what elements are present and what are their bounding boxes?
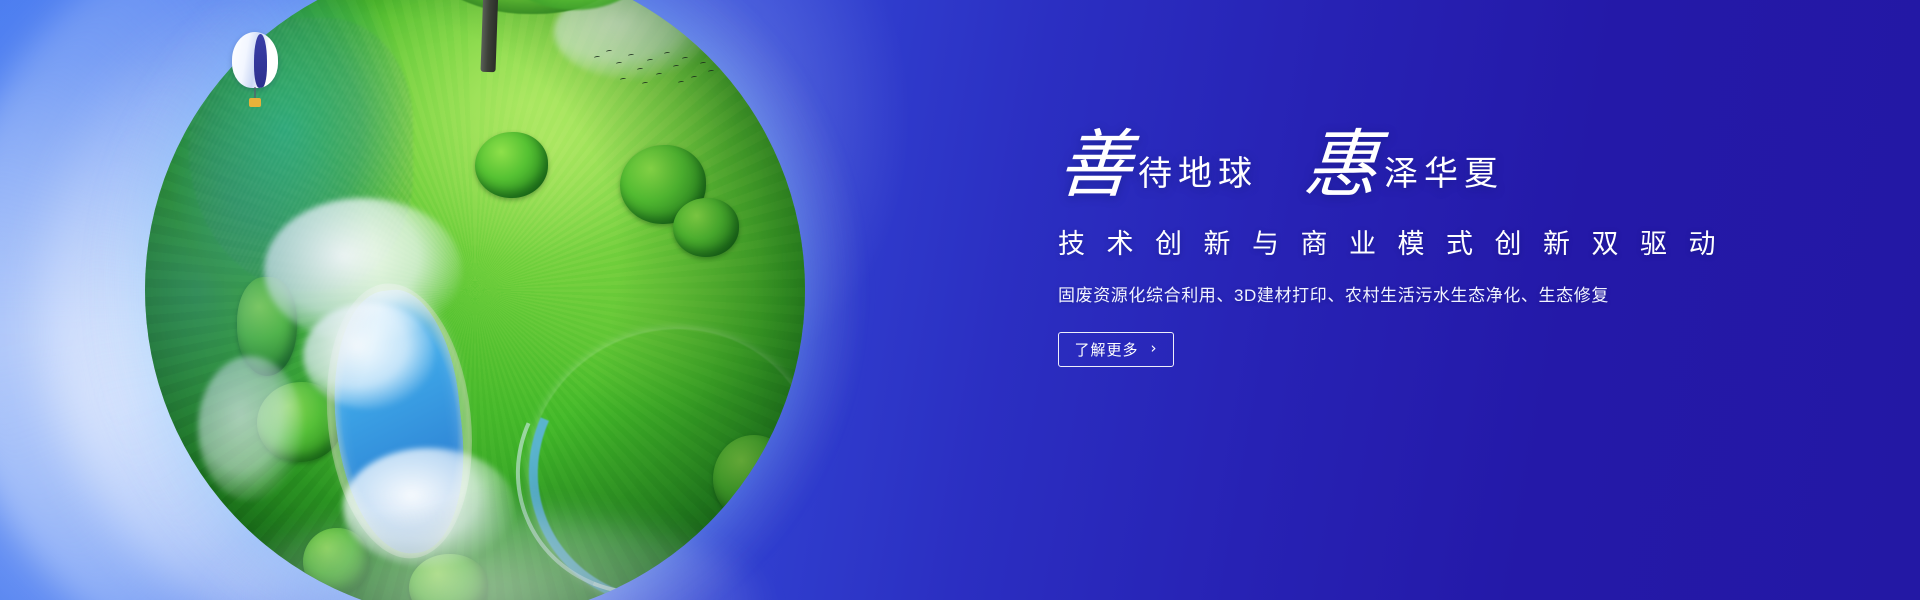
tree-icon — [257, 382, 343, 461]
headline-char-1: 善 — [1056, 132, 1135, 200]
hero-banner: 善 待地球 惠 泽华夏 技 术 创 新 与 商 业 模 式 创 新 双 驱 动 … — [0, 0, 1920, 600]
balloon-basket — [249, 98, 261, 107]
tree-canopy-secondary — [500, 0, 650, 10]
hero-copy: 善 待地球 惠 泽华夏 技 术 创 新 与 商 业 模 式 创 新 双 驱 动 … — [1058, 132, 1678, 367]
river-highlight — [477, 302, 805, 600]
tree-canopy — [420, 0, 630, 14]
tree-icon — [475, 132, 548, 198]
description: 固废资源化综合利用、3D建材打印、农村生活污水生态净化、生态修复 — [1058, 281, 1678, 306]
cloud-icon — [198, 356, 304, 501]
chevron-right-icon: › — [1151, 341, 1158, 356]
cloud-icon — [303, 303, 435, 409]
cloud-icon — [264, 198, 462, 343]
bird-flock-icon — [590, 48, 720, 92]
headline: 善 待地球 惠 泽华夏 — [1058, 132, 1678, 200]
globe-mist — [205, 510, 765, 600]
terraced-hills — [158, 0, 462, 343]
tree-trunk — [481, 0, 499, 72]
tree-icon — [409, 554, 488, 600]
cloud-icon — [343, 448, 515, 567]
hot-air-balloon-icon — [232, 32, 286, 116]
tree-icon — [303, 528, 369, 594]
learn-more-button[interactable]: 了解更多 › — [1058, 332, 1174, 367]
headline-char-2: 惠 — [1302, 132, 1381, 200]
headline-phrase-1: 待地球 — [1132, 158, 1258, 200]
tree-icon — [620, 145, 706, 224]
tree-icon — [237, 277, 296, 376]
subtitle: 技 术 创 新 与 商 业 模 式 创 新 双 驱 动 — [1058, 222, 1678, 261]
tree-icon — [713, 435, 792, 521]
balloon-envelope — [232, 32, 278, 88]
lake — [323, 284, 475, 560]
learn-more-label: 了解更多 — [1074, 339, 1138, 360]
headline-phrase-2: 泽华夏 — [1378, 158, 1504, 200]
globe-glow — [90, 0, 860, 600]
river — [486, 285, 805, 600]
tree-icon — [673, 198, 739, 257]
